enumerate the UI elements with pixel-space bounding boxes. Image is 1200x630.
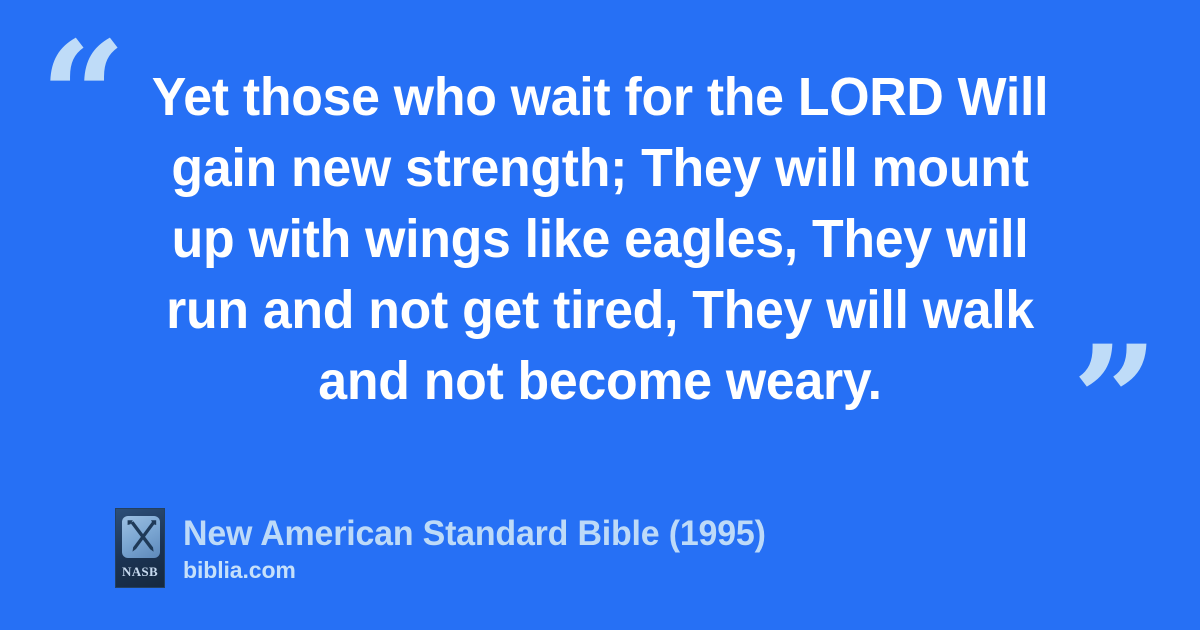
nasb-logo-icon: NASB — [115, 508, 165, 588]
bible-version-title: New American Standard Bible (1995) — [183, 514, 766, 554]
nasb-logo-plate — [122, 516, 160, 558]
attribution: NASB New American Standard Bible (1995) … — [115, 508, 784, 588]
quote-text-block: Yet those who wait for the LORD Will gai… — [110, 62, 1090, 417]
quote-card: “ Yet those who wait for the LORD Will g… — [0, 0, 1200, 630]
attribution-text: New American Standard Bible (1995) bibli… — [183, 514, 784, 583]
nasb-wordmark: NASB — [116, 565, 164, 578]
quote-line: up with wings like eagles, They will — [130, 204, 1071, 275]
quote-line: and not become weary. — [130, 346, 1071, 417]
source-site-label[interactable]: biblia.com — [183, 557, 784, 583]
close-quote-mark: ” — [1072, 326, 1158, 476]
sword-icon — [122, 516, 160, 558]
quote-line: gain new strength; They will mount — [130, 133, 1071, 204]
quote-line: Yet those who wait for the LORD Will — [130, 62, 1071, 133]
quote-line: run and not get tired, They will walk — [130, 275, 1071, 346]
